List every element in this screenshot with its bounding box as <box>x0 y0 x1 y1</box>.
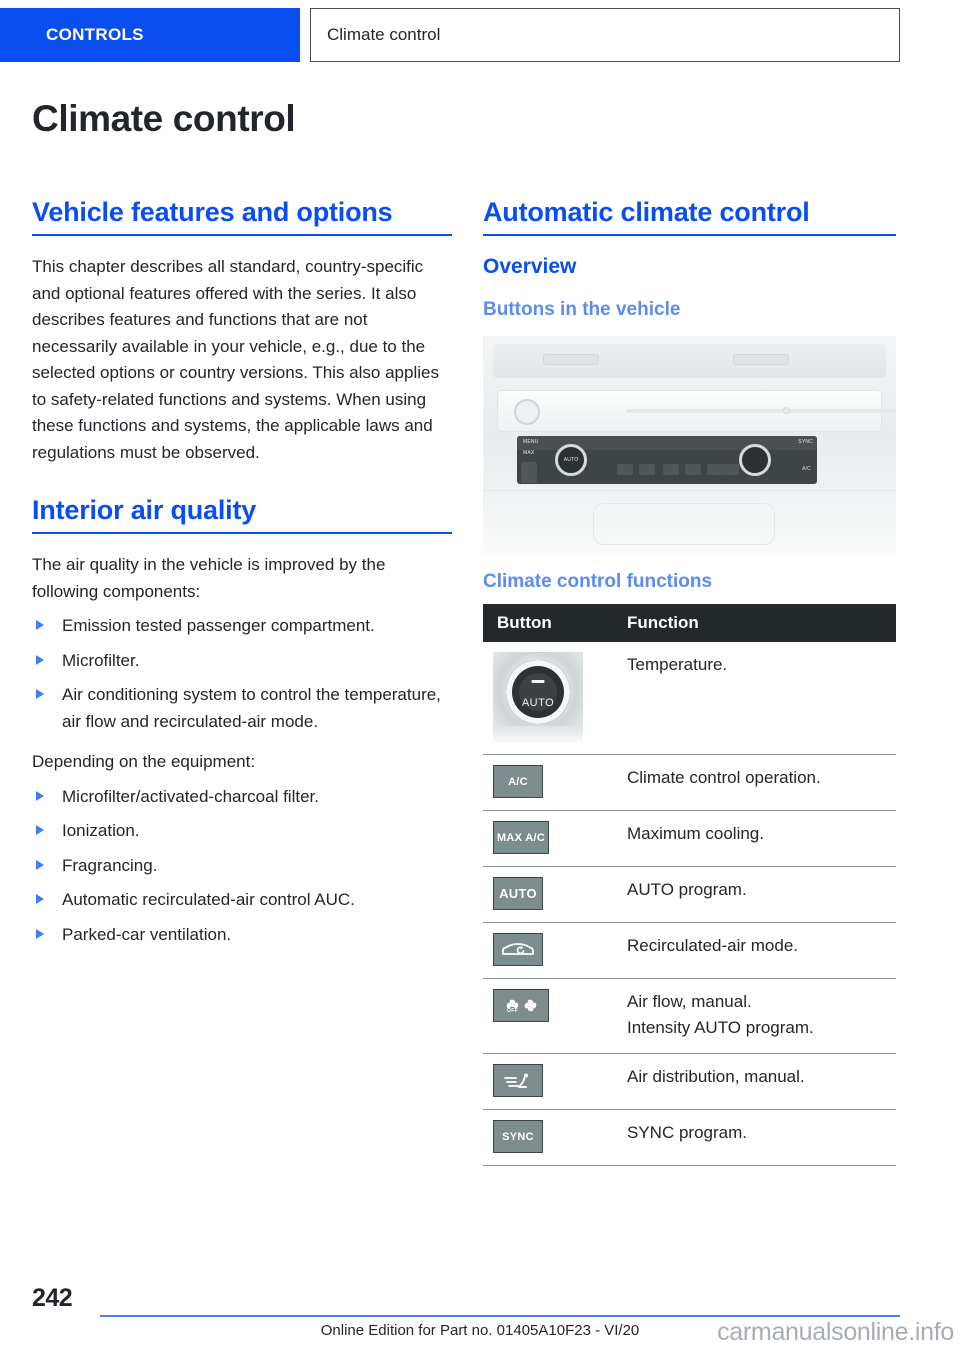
function-cell: Maximum cooling. <box>613 811 896 867</box>
list-item: Air conditioning system to control the t… <box>32 682 452 735</box>
button-cell: AUTO <box>483 642 613 755</box>
sync-button-label: SYNC <box>502 1124 534 1150</box>
air-vent-right-icon <box>733 354 789 365</box>
bullet-triangle-icon <box>36 689 44 699</box>
function-cell: Recirculated-air mode. <box>613 923 896 979</box>
sync-button-icon: SYNC <box>493 1120 543 1153</box>
function-cell: Air flow, manual. Intensity AUTO program… <box>613 979 896 1054</box>
bullet-triangle-icon <box>36 929 44 939</box>
ac-button-icon: A/C <box>493 765 543 798</box>
automatic-climate-control-heading: Automatic climate control <box>483 196 896 228</box>
column-header-function: Function <box>613 604 896 642</box>
air-distribution-button-icon <box>493 1064 543 1097</box>
list-item-label: Emission tested passenger compartment. <box>62 616 375 635</box>
automatic-climate-rule <box>483 234 896 236</box>
panel-defrost-button <box>663 464 679 475</box>
column-header-button: Button <box>483 604 613 642</box>
intro-paragraph: This chapter describes all standard, cou… <box>32 254 452 466</box>
knob-dash-icon <box>532 680 545 683</box>
list-item-label: Ionization. <box>62 821 140 840</box>
panel-left-temp-knob: AUTO <box>555 444 587 476</box>
equipment-list: Microfilter/activated-charcoal filter. I… <box>32 784 452 949</box>
left-column: Vehicle features and options This chapte… <box>32 196 452 948</box>
table-row: A/C Climate control operation. <box>483 755 896 811</box>
page-footer: 242 Online Edition for Part no. 01405A10… <box>0 1272 960 1362</box>
fan-off-icon: OFF <box>505 998 520 1013</box>
list-item: Parked-car ventilation. <box>32 922 452 949</box>
fan-off-label: OFF <box>507 1008 518 1013</box>
table-row: SYNC SYNC program. <box>483 1110 896 1166</box>
button-cell: OFF <box>483 979 613 1054</box>
panel-sync-label: SYNC <box>798 439 813 445</box>
list-item: Microfilter/activated-charcoal filter. <box>32 784 452 811</box>
list-item-label: Parked-car ventilation. <box>62 925 231 944</box>
auto-button-icon: AUTO <box>493 877 543 910</box>
button-cell <box>483 923 613 979</box>
function-cell: AUTO program. <box>613 867 896 923</box>
function-cell: Climate control operation. <box>613 755 896 811</box>
panel-ac-label: A/C <box>802 466 811 472</box>
eject-dot-icon <box>783 407 790 414</box>
bullet-triangle-icon <box>36 860 44 870</box>
button-cell: A/C <box>483 755 613 811</box>
climate-functions-table: Button Function AUTO Temperature <box>483 604 896 1166</box>
bullet-triangle-icon <box>36 791 44 801</box>
table-row: AUTO Temperature. <box>483 642 896 755</box>
dashboard-photo: MENU MAX SYNC A/C AUTO <box>483 336 896 554</box>
panel-right-temp-knob <box>739 444 771 476</box>
list-item: Emission tested passenger compartment. <box>32 613 452 640</box>
bullet-triangle-icon <box>36 894 44 904</box>
list-item: Fragrancing. <box>32 853 452 880</box>
manual-page: CONTROLS Climate control Climate control… <box>0 0 960 1362</box>
header-section-label: Climate control <box>311 25 440 45</box>
knob-base <box>493 726 583 742</box>
watermark-text: carmanualsonline.info <box>717 1318 954 1347</box>
function-cell: Air distribution, manual. <box>613 1054 896 1110</box>
header-chapter-tab: CONTROLS <box>0 8 300 62</box>
list-item: Microfilter. <box>32 648 452 675</box>
ac-button-label: A/C <box>508 769 528 795</box>
air-quality-list: Emission tested passenger compartment. M… <box>32 613 452 735</box>
list-item-label: Microfilter. <box>62 651 139 670</box>
table-row: OFF <box>483 979 896 1054</box>
panel-menu-label: MENU <box>523 439 539 445</box>
panel-max-label: MAX <box>523 450 534 456</box>
panel-air-dist-button <box>707 464 723 475</box>
auto-button-label: AUTO <box>499 881 537 907</box>
function-cell: SYNC program. <box>613 1110 896 1166</box>
list-item: Ionization. <box>32 818 452 845</box>
page-header: CONTROLS Climate control <box>0 8 900 62</box>
air-quality-intro: The air quality in the vehicle is improv… <box>32 552 452 605</box>
knob-auto-label: AUTO <box>493 690 583 716</box>
bullet-triangle-icon <box>36 620 44 630</box>
panel-knob-auto-label: AUTO <box>558 457 584 463</box>
air-flow-button-icon: OFF <box>493 989 549 1022</box>
footer-rule <box>100 1315 900 1317</box>
table-row: Air distribution, manual. <box>483 1054 896 1110</box>
panel-mini-button <box>521 472 537 483</box>
button-cell: MAX A/C <box>483 811 613 867</box>
list-item-label: Microfilter/activated-charcoal filter. <box>62 787 319 806</box>
vehicle-features-heading: Vehicle features and options <box>32 196 452 228</box>
climate-control-panel: MENU MAX SYNC A/C AUTO <box>517 436 817 484</box>
air-quality-rule <box>32 532 452 534</box>
heading-rule <box>32 234 452 236</box>
page-number: 242 <box>32 1284 72 1313</box>
button-cell: AUTO <box>483 867 613 923</box>
panel-seat-heat-button <box>617 464 633 475</box>
equipment-lead: Depending on the equipment: <box>32 749 452 776</box>
climate-control-functions-heading: Climate control functions <box>483 570 896 594</box>
list-item: Automatic recirculated-air control AUC. <box>32 887 452 914</box>
temperature-knob-icon: AUTO <box>493 652 583 742</box>
page-title: Climate control <box>32 98 295 140</box>
overview-heading: Overview <box>483 254 896 280</box>
dash-lower-trim <box>483 490 896 554</box>
recirculated-air-button-icon <box>493 933 543 966</box>
table-row: Recirculated-air mode. <box>483 923 896 979</box>
table-header-row: Button Function <box>483 604 896 642</box>
car-recirculation-icon <box>501 942 535 957</box>
header-chapter-label: CONTROLS <box>0 25 144 45</box>
list-item-label: Automatic recirculated-air control AUC. <box>62 890 355 909</box>
table-row: AUTO AUTO program. <box>483 867 896 923</box>
button-cell: SYNC <box>483 1110 613 1166</box>
panel-fan-button <box>685 464 701 475</box>
fan-icon <box>523 998 538 1013</box>
function-line-1: Air flow, manual. <box>627 989 896 1015</box>
table-row: MAX A/C Maximum cooling. <box>483 811 896 867</box>
radio-knob-icon <box>514 399 540 425</box>
cd-slot <box>626 409 896 413</box>
max-ac-button-icon: MAX A/C <box>493 821 549 854</box>
air-distribution-icon <box>503 1072 533 1090</box>
bullet-triangle-icon <box>36 655 44 665</box>
right-column: Automatic climate control Overview Butto… <box>483 196 896 1166</box>
interior-air-quality-heading: Interior air quality <box>32 494 452 526</box>
button-cell <box>483 1054 613 1110</box>
max-ac-button-label: MAX A/C <box>497 825 545 851</box>
buttons-in-vehicle-heading: Buttons in the vehicle <box>483 298 896 322</box>
panel-air-dist-button <box>723 464 739 475</box>
list-item-label: Fragrancing. <box>62 856 157 875</box>
radio-panel <box>497 390 882 432</box>
air-vent-left-icon <box>543 354 599 365</box>
bullet-triangle-icon <box>36 825 44 835</box>
function-cell: Temperature. <box>613 642 896 755</box>
header-section-box: Climate control <box>310 8 900 62</box>
list-item-label: Air conditioning system to control the t… <box>62 685 441 731</box>
function-line-2: Intensity AUTO program. <box>627 1015 896 1041</box>
panel-seat-heat-button <box>639 464 655 475</box>
